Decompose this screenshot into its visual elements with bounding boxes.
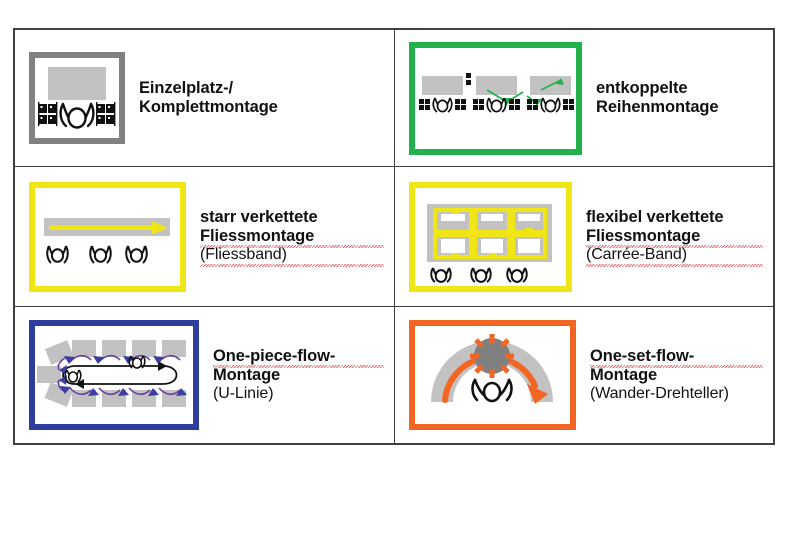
station-1 [419, 98, 466, 112]
label-starr-verkettete: starr verkettete Fliessmontage (Fliessba… [186, 208, 390, 265]
label-entkoppelte-reihenmontage: entkoppelte Reihenmontage [582, 79, 769, 117]
title-line-2: Komplettmontage [139, 98, 384, 117]
worker-1 [47, 246, 67, 263]
label-flexibel-verkettete: flexibel verkettete Fliessmontage (Carré… [572, 208, 769, 265]
u-line-group [35, 326, 193, 424]
cell-entkoppelte-reihenmontage: entkoppelte Reihenmontage [395, 30, 773, 167]
figure-canvas: Einzelplatz-/ Komplettmontage [0, 0, 800, 544]
label-einzelplatz: Einzelplatz-/ Komplettmontage [125, 79, 390, 117]
title-line-2: Montage [213, 366, 384, 385]
flexibel-verkettete-fliessmontage-icon [409, 182, 572, 292]
cell-flexibel-verkettete-fliessmontage: flexibel verkettete Fliessmontage (Carré… [395, 167, 773, 307]
title-line-1: Einzelplatz-/ [139, 79, 384, 98]
worker-2 [90, 246, 110, 263]
workstation-blocks-top [72, 340, 186, 357]
title-line-2: Fliessmontage [586, 227, 763, 246]
row-assembly-stations-group [415, 48, 576, 149]
title-line-1: flexibel verkettete [586, 208, 763, 227]
cell-one-piece-flow-montage: One-piece-flow- Montage (U-Linie) [15, 307, 395, 443]
walk-path-arrowhead-right [158, 361, 167, 371]
wander-drehteller-group [415, 326, 570, 424]
worker-3 [126, 246, 146, 263]
cell-one-set-flow-montage: One-set-flow- Montage (Wander-Drehteller… [395, 307, 773, 443]
cell-einzelplatz-komplettmontage: Einzelplatz-/ Komplettmontage [15, 30, 395, 167]
title-line-1: One-piece-flow- [213, 347, 384, 366]
title-line-2: Reihenmontage [596, 98, 763, 117]
title-line-2: Montage [590, 366, 763, 385]
starr-verkettete-fliessmontage-icon [29, 182, 186, 292]
subtitle: (Carrée-Band) [586, 246, 763, 265]
station-2 [473, 98, 520, 112]
turntable-icon [470, 334, 514, 378]
carree-band-group [415, 188, 566, 286]
title-line-1: One-set-flow- [590, 347, 763, 366]
one-set-flow-wander-drehteller-icon [409, 320, 576, 430]
buffer-bins [466, 73, 471, 85]
station-3 [527, 98, 574, 112]
one-piece-flow-u-linie-icon [29, 320, 199, 430]
subtitle: (Fliessband) [200, 246, 384, 265]
worker-3 [507, 268, 526, 282]
conveyor-line-group [35, 188, 180, 286]
einzelplatz-montage-icon [29, 52, 125, 144]
title-line-1: starr verkettete [200, 208, 384, 227]
title-line-1: entkoppelte [596, 79, 763, 98]
subtitle: (Wander-Drehteller) [590, 385, 763, 404]
worker-2 [471, 268, 490, 282]
label-one-set-flow: One-set-flow- Montage (Wander-Drehteller… [576, 347, 769, 404]
worker-head [69, 109, 86, 128]
subtitle: (U-Linie) [213, 385, 384, 404]
label-one-piece-flow: One-piece-flow- Montage (U-Linie) [199, 347, 390, 404]
bin-rack-left [38, 102, 57, 126]
worker-center [473, 380, 512, 401]
worker-1 [431, 268, 450, 282]
worker-inside-left [65, 370, 81, 382]
assembly-systems-matrix: Einzelplatz-/ Komplettmontage [13, 28, 775, 445]
worktable-shape [48, 67, 106, 100]
entkoppelte-reihenmontage-icon [409, 42, 582, 155]
cell-starr-verkettete-fliessmontage: starr verkettete Fliessmontage (Fliessba… [15, 167, 395, 307]
bin-rack-right [96, 102, 115, 126]
title-line-2: Fliessmontage [200, 227, 384, 246]
